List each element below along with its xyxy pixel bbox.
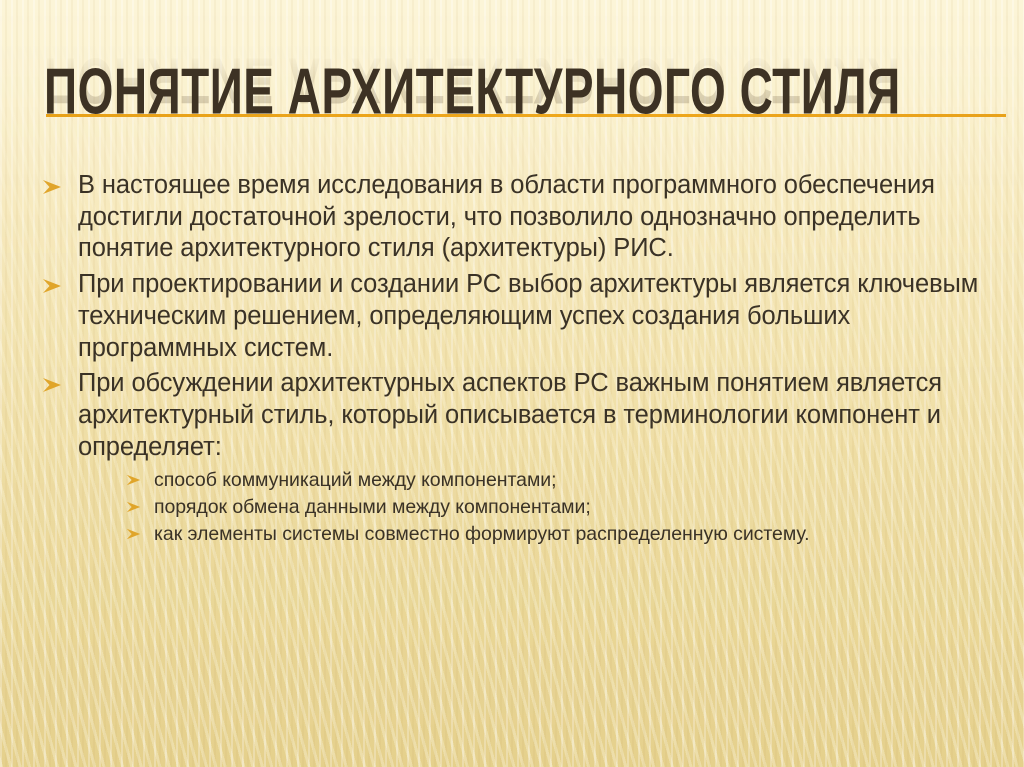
arrowhead-bullet-icon: [126, 474, 141, 486]
list-item: При проектировании и создании РС выбор а…: [36, 269, 988, 364]
arrowhead-bullet-icon: [42, 179, 62, 195]
list-item-text: При обсуждении архитектурных аспектов РС…: [78, 369, 942, 460]
sub-list-item-text: как элементы системы совместно формируют…: [154, 523, 810, 545]
presentation-slide: Понятие архитектурного стиля Понятие арх…: [0, 0, 1024, 767]
sub-list-item: способ коммуникаций между компонентами;: [122, 468, 988, 493]
sub-list-item: как элементы системы совместно формируют…: [122, 522, 988, 547]
sub-bullet-list: способ коммуникаций между компонентами; …: [122, 468, 988, 548]
sub-list-item-text: способ коммуникаций между компонентами;: [154, 469, 557, 491]
list-item: В настоящее время исследования в области…: [36, 170, 988, 265]
bullet-list: В настоящее время исследования в области…: [36, 170, 988, 548]
list-item: При обсуждении архитектурных аспектов РС…: [36, 368, 988, 547]
arrowhead-bullet-icon: [126, 528, 141, 540]
slide-body: В настоящее время исследования в области…: [36, 170, 988, 552]
arrowhead-bullet-icon: [42, 377, 62, 393]
arrowhead-bullet-icon: [126, 501, 141, 513]
slide-title-block: Понятие архитектурного стиля Понятие арх…: [0, 62, 1024, 150]
page-title: Понятие архитектурного стиля: [44, 58, 901, 123]
list-item-text: При проектировании и создании РС выбор а…: [78, 270, 978, 361]
list-item-text: В настоящее время исследования в области…: [78, 171, 935, 262]
sub-list-item: порядок обмена данными между компонентам…: [122, 495, 988, 520]
arrowhead-bullet-icon: [42, 278, 62, 294]
sub-list-item-text: порядок обмена данными между компонентам…: [154, 496, 591, 518]
slide-content: Понятие архитектурного стиля Понятие арх…: [0, 0, 1024, 767]
